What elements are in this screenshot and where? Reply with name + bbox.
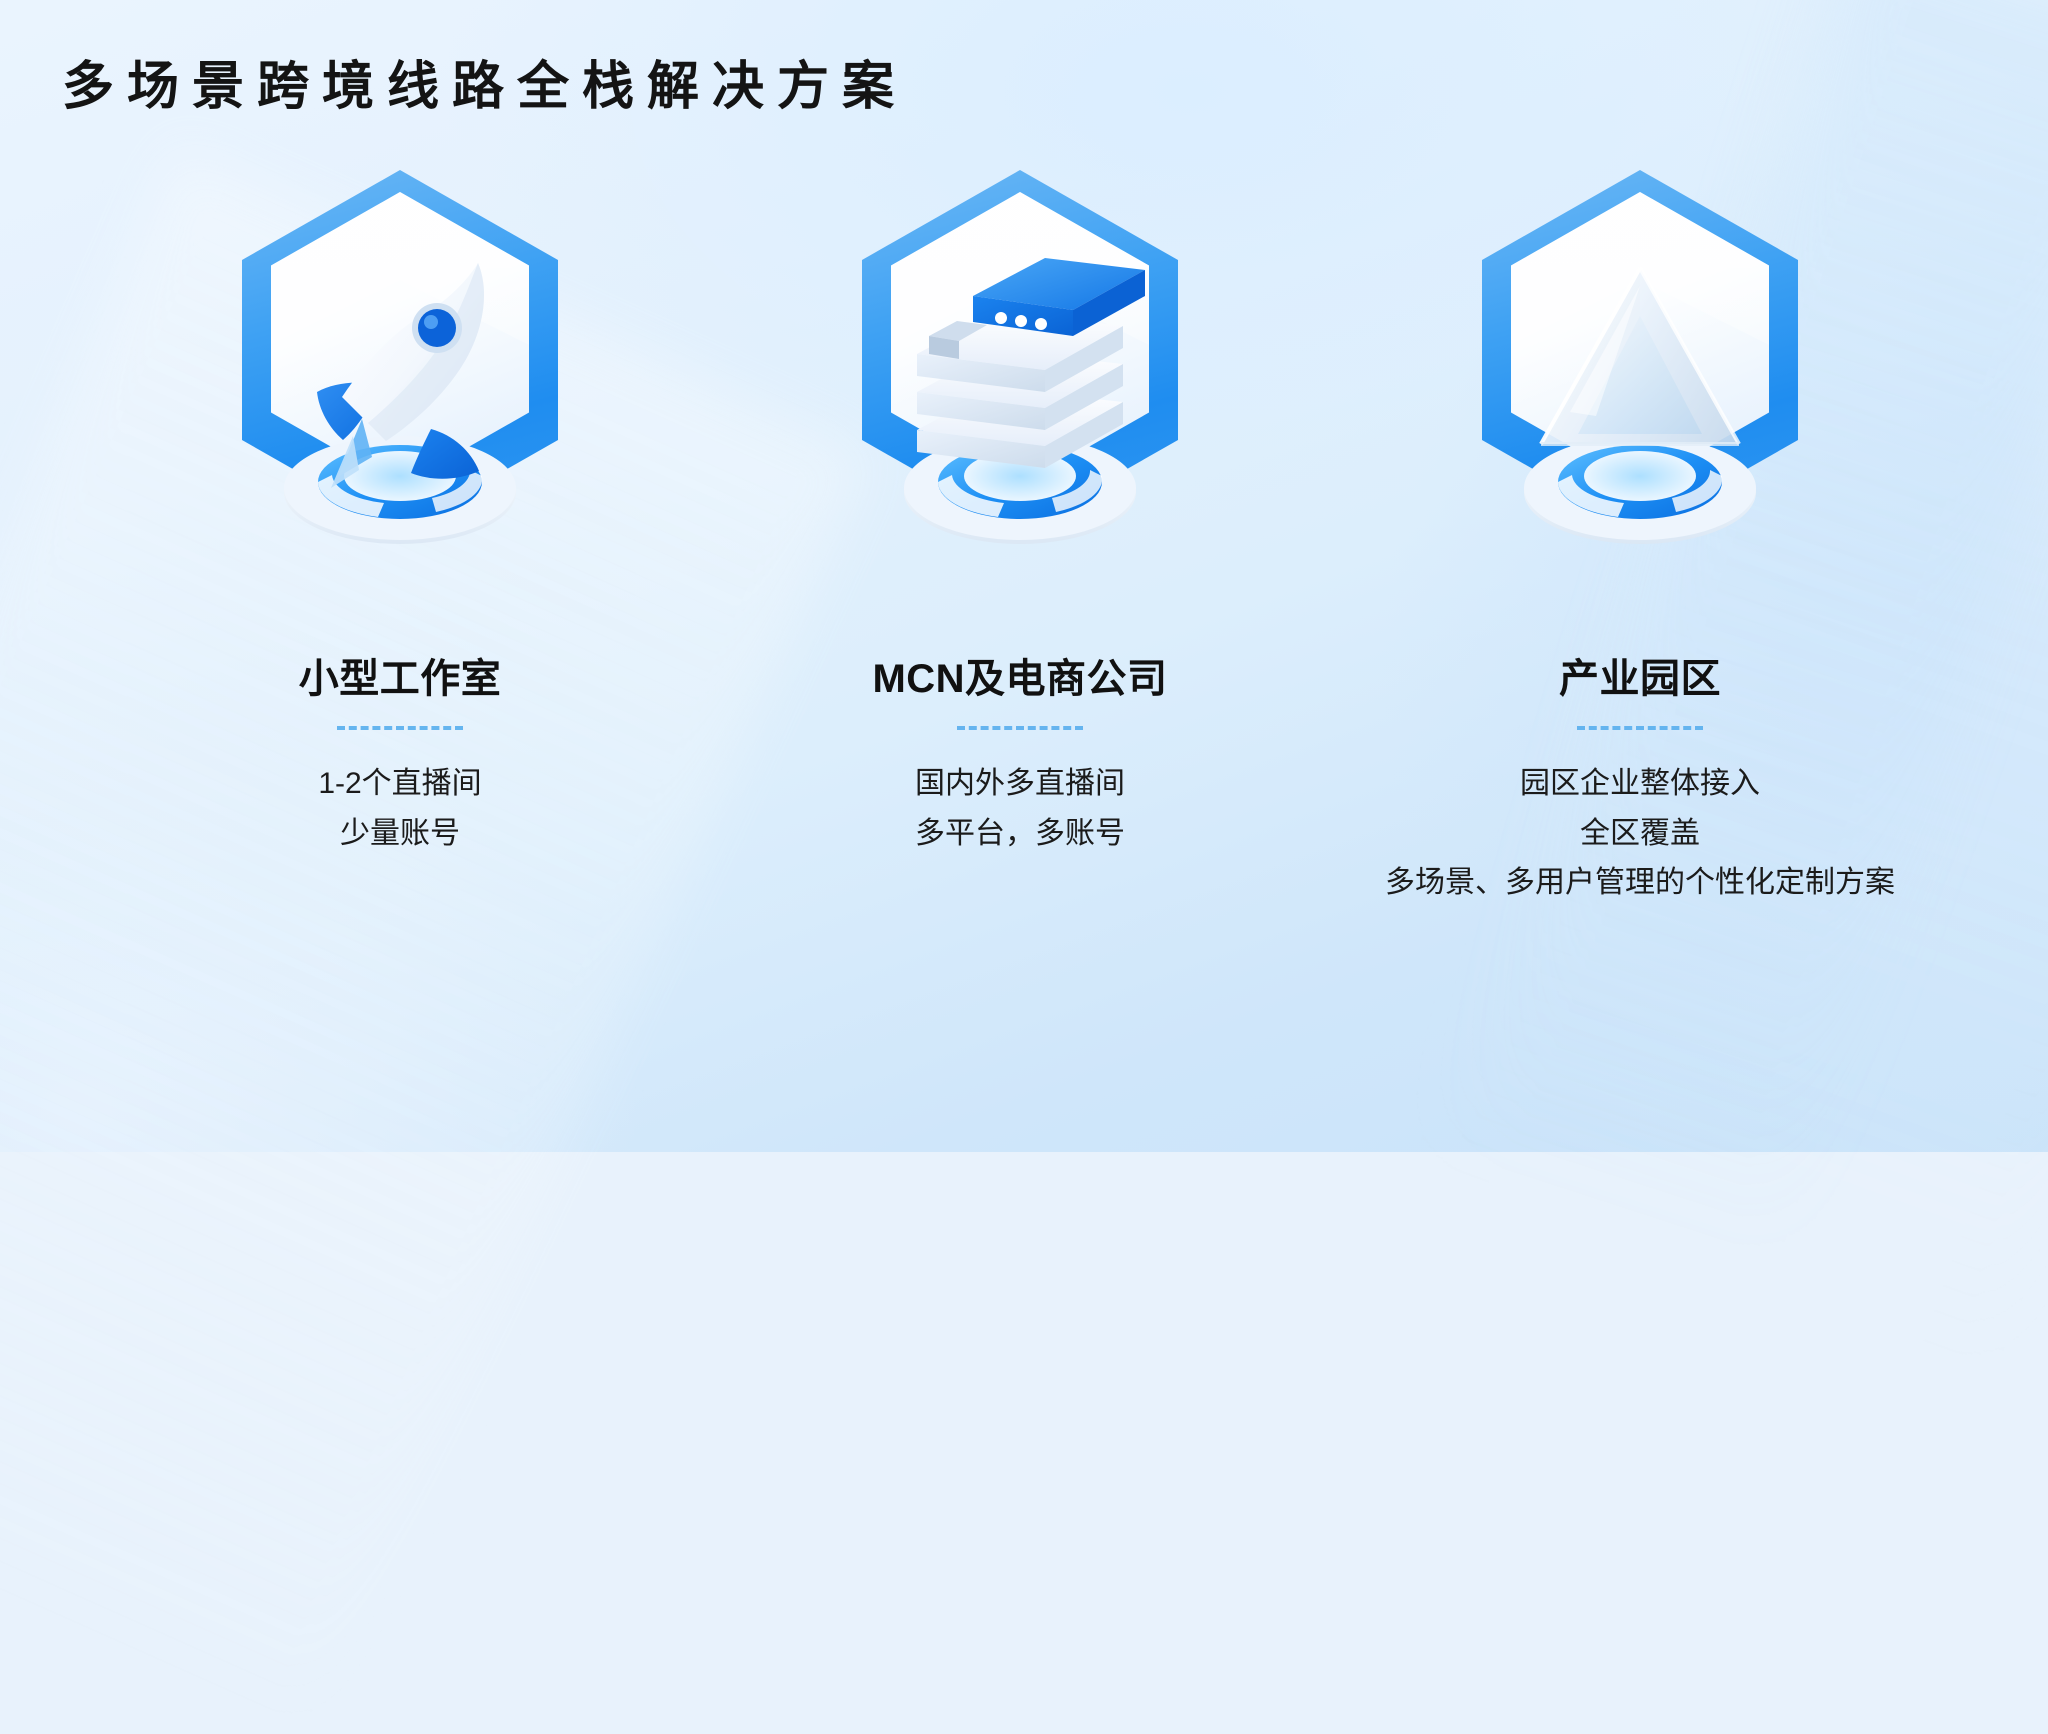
rocket-hexagon-icon: [185, 170, 615, 640]
solution-card-list: 小型工作室 1-2个直播间 少量账号: [0, 170, 2048, 910]
rocket-illustration: [235, 224, 565, 564]
card-divider: [337, 726, 463, 730]
card-description-line: 园区企业整体接入: [1385, 761, 1895, 808]
page-title: 多场景跨境线路全栈解决方案: [62, 58, 907, 116]
card-description: 国内外多直播间 多平台，多账号: [915, 758, 1125, 860]
solution-card[interactable]: 产业园区 园区企业整体接入 全区覆盖 多场景、多用户管理的个性化定制方案: [1330, 170, 1950, 910]
card-divider: [957, 726, 1083, 730]
solution-card[interactable]: 小型工作室 1-2个直播间 少量账号: [90, 170, 710, 860]
card-description-line: 1-2个直播间: [318, 761, 481, 808]
slide-root: 多场景跨境线路全栈解决方案: [0, 0, 2048, 1152]
card-title: 小型工作室: [299, 646, 502, 704]
card-title: MCN及电商公司: [872, 646, 1167, 704]
solution-card[interactable]: MCN及电商公司 国内外多直播间 多平台，多账号: [710, 170, 1330, 860]
card-description-line: 少量账号: [318, 811, 481, 858]
card-description-line: 多平台，多账号: [915, 811, 1125, 858]
pyramid-illustration: [1475, 224, 1805, 564]
card-description: 1-2个直播间 少量账号: [318, 758, 481, 860]
server-stack-illustration: [855, 224, 1185, 564]
card-description-line: 国内外多直播间: [915, 761, 1125, 808]
card-description: 园区企业整体接入 全区覆盖 多场景、多用户管理的个性化定制方案: [1385, 758, 1895, 910]
card-title: 产业园区: [1559, 646, 1721, 704]
pyramid-hexagon-icon: [1425, 170, 1855, 640]
card-description-line: 多场景、多用户管理的个性化定制方案: [1385, 860, 1895, 907]
card-description-line: 全区覆盖: [1385, 811, 1895, 858]
server-stack-hexagon-icon: [805, 170, 1235, 640]
card-divider: [1577, 726, 1703, 730]
